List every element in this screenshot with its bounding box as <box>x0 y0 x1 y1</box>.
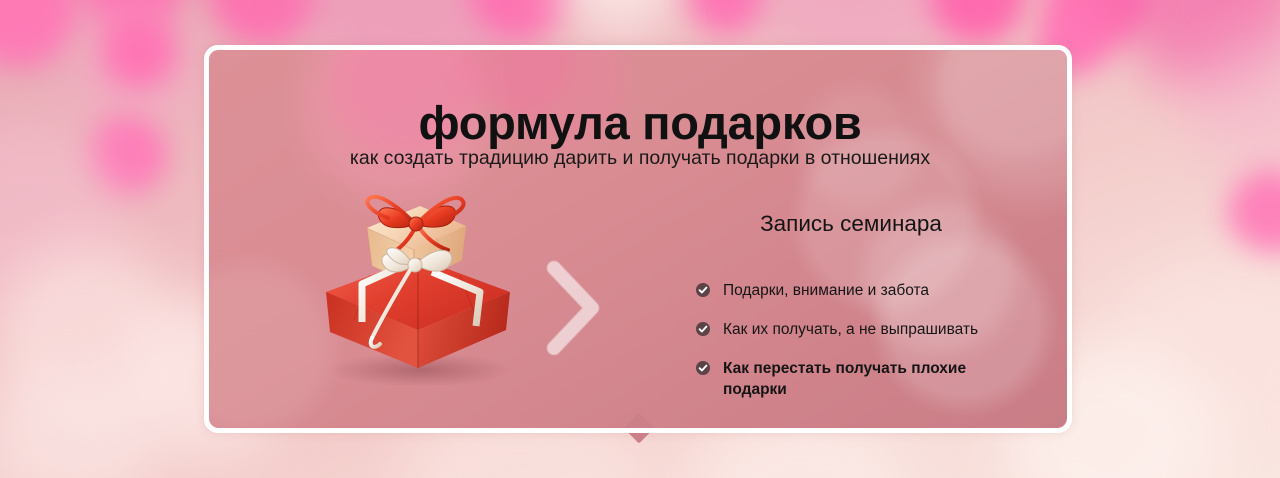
bokeh-circle <box>80 0 185 35</box>
bokeh-circle <box>208 0 320 46</box>
bokeh-circle <box>1120 0 1280 90</box>
diamond-marker-base <box>612 428 668 433</box>
check-circle-icon <box>696 283 710 297</box>
bokeh-circle <box>688 0 766 34</box>
check-circle-icon <box>696 322 710 336</box>
seminar-info-column: Запись семинара Подарки, внимание и забо… <box>660 210 1060 401</box>
page-subtitle: как создать традицию дарить и получать п… <box>0 147 1280 169</box>
bokeh-circle <box>1046 0 1150 48</box>
bokeh-circle <box>0 372 162 478</box>
bokeh-circle <box>0 0 80 68</box>
list-item-label: Как перестать получать плохие подарки <box>723 360 966 398</box>
list-item: Подарки, внимание и забота <box>696 281 1001 302</box>
page-title: формула подарков <box>0 99 1280 146</box>
bokeh-circle <box>0 245 190 445</box>
chevron-right-icon <box>540 258 610 358</box>
feature-bullet-list: Подарки, внимание и забота Как их получа… <box>660 281 1060 401</box>
list-item: Как перестать получать плохие подарки <box>696 359 1001 401</box>
list-item-label: Подарки, внимание и забота <box>723 282 929 299</box>
list-item-label: Как их получать, а не выпрашивать <box>723 321 978 338</box>
check-circle-icon <box>696 361 710 375</box>
bokeh-circle <box>1228 170 1280 256</box>
bokeh-circle <box>560 0 680 40</box>
promo-banner: формула подарков как создать традицию да… <box>0 0 1280 478</box>
bokeh-circle <box>102 14 176 88</box>
list-item: Как их получать, а не выпрашивать <box>696 320 1001 341</box>
seminar-heading: Запись семинара <box>660 210 1060 237</box>
gift-boxes-image <box>310 180 525 385</box>
bokeh-circle <box>930 0 1026 44</box>
bokeh-circle <box>470 0 570 40</box>
bokeh-circle <box>1100 260 1280 460</box>
